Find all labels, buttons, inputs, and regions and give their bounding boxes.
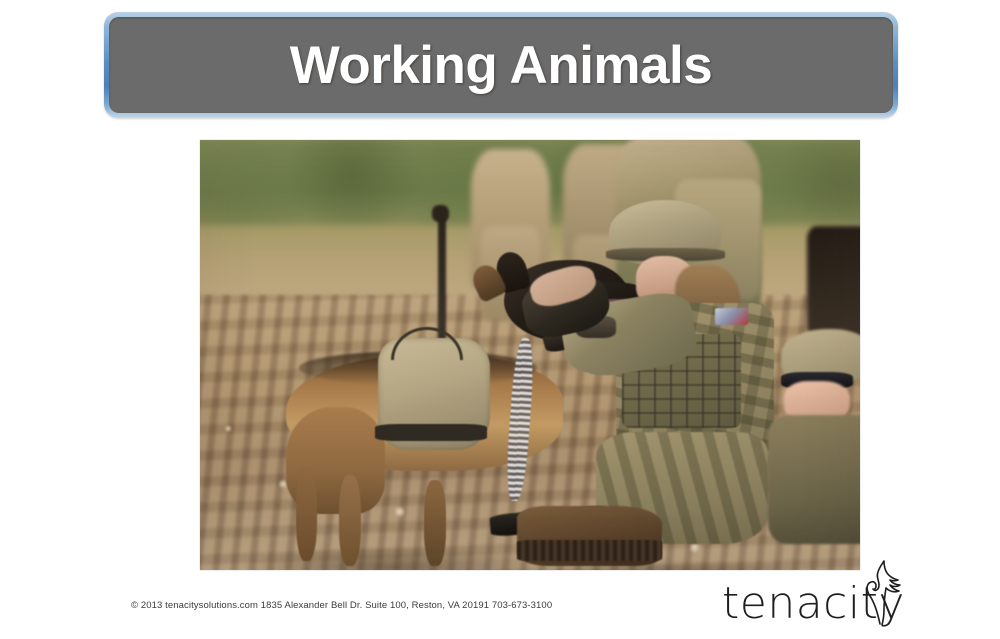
photo-dog-vest-strap — [375, 424, 487, 441]
photo-second-soldier-gear — [807, 226, 860, 338]
title-banner: Working Animals — [104, 12, 898, 118]
title-banner-inner: Working Animals — [109, 17, 893, 113]
footer-copyright: © 2013 tenacitysolutions.com 1835 Alexan… — [131, 600, 552, 611]
tenacity-logo: tenacity — [722, 562, 902, 630]
photo-dog-leg — [339, 475, 361, 565]
photo-background-pole-top — [432, 205, 449, 222]
photo-dog-leg — [296, 467, 317, 562]
photo-dog-leg — [424, 480, 445, 566]
photo-soldier-boot-sole — [517, 540, 662, 562]
page-title: Working Animals — [290, 39, 712, 92]
content-photo — [200, 140, 860, 570]
howling-wolf-icon — [854, 558, 912, 628]
photo-soldier-flag-patch — [715, 308, 748, 325]
photo-second-soldier-body — [768, 415, 860, 544]
slide-canvas: Working Animals — [0, 0, 1000, 639]
